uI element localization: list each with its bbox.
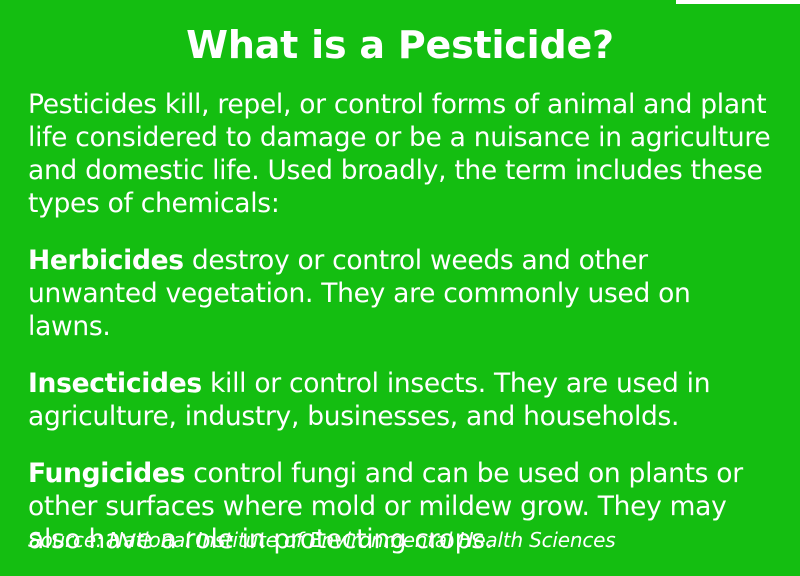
category-term-fungicides: Fungicides [28, 458, 185, 489]
category-term-herbicides: Herbicides [28, 245, 184, 276]
category-paragraph-herbicides: Herbicides destroy or control weeds and … [28, 244, 776, 343]
page-title: What is a Pesticide? [0, 22, 800, 68]
slide-body: Pesticides kill, repel, or control forms… [28, 88, 776, 556]
pesticide-info-slide: What is a Pesticide? Pesticides kill, re… [0, 0, 800, 576]
category-term-insecticides: Insecticides [28, 368, 202, 399]
source-attribution: Source: National Institute of Environmen… [28, 528, 615, 553]
top-right-white-strip [676, 0, 800, 4]
category-paragraph-insecticides: Insecticides kill or control insects. Th… [28, 367, 776, 433]
intro-paragraph: Pesticides kill, repel, or control forms… [28, 88, 776, 220]
